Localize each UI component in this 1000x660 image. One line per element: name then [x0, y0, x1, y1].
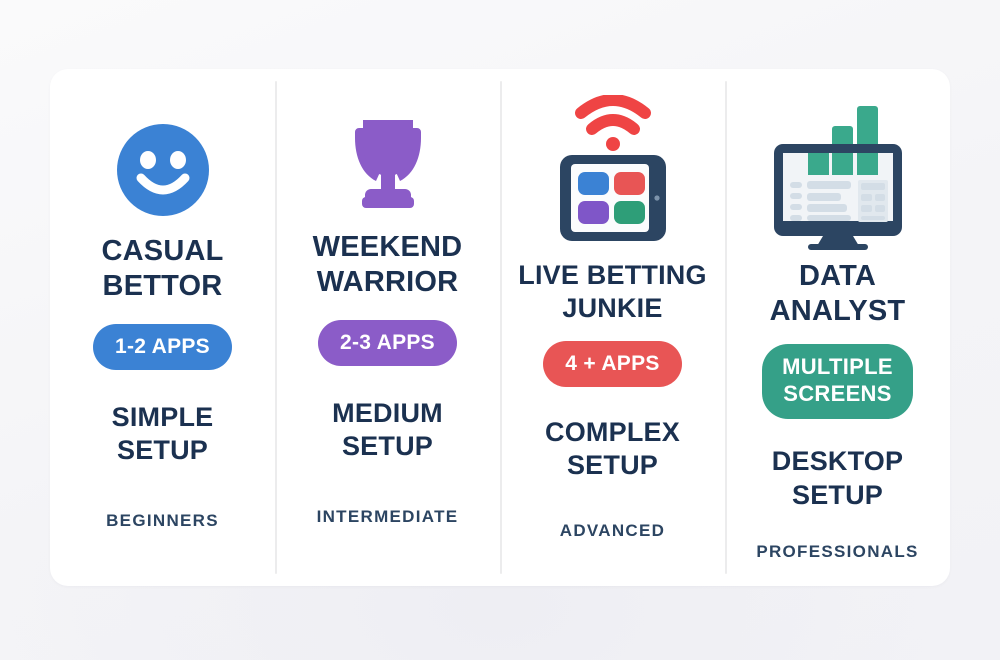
- persona-column-live-betting-junkie[interactable]: LIVE BETTING JUNKIE 4 + APPS COMPLEX SET…: [500, 69, 725, 586]
- apps-badge-row: 1-2 APPS: [93, 324, 232, 370]
- persona-column-casual-bettor[interactable]: CASUAL BETTOR 1-2 APPS SIMPLE SETUP BEGI…: [50, 69, 275, 586]
- comparison-card: CASUAL BETTOR 1-2 APPS SIMPLE SETUP BEGI…: [50, 69, 950, 586]
- persona-title: DATA ANALYST: [770, 259, 906, 330]
- apps-badge-row: 2-3 APPS: [318, 320, 457, 366]
- persona-title: WEEKEND WARRIOR: [313, 230, 463, 301]
- apps-badge-row: 4 + APPS: [543, 341, 681, 387]
- setup-complexity-label: MEDIUM SETUP: [332, 397, 443, 463]
- apps-count-badge[interactable]: 2-3 APPS: [318, 320, 457, 366]
- smiley-face-icon: [83, 98, 243, 218]
- persona-column-data-analyst[interactable]: DATA ANALYST MULTIPLE SCREENS DESKTOP SE…: [725, 69, 950, 586]
- setup-complexity-label: DESKTOP SETUP: [772, 445, 903, 511]
- screens-badge-row: MULTIPLE SCREENS: [762, 344, 913, 420]
- trophy-icon: [308, 95, 468, 215]
- tablet-wifi-apps-icon: [533, 95, 693, 247]
- apps-count-badge[interactable]: 4 + APPS: [543, 341, 681, 387]
- experience-level-label: INTERMEDIATE: [317, 507, 459, 527]
- experience-level-label: BEGINNERS: [106, 511, 219, 531]
- persona-title: CASUAL BETTOR: [101, 234, 223, 305]
- experience-level-label: ADVANCED: [560, 521, 665, 541]
- persona-column-weekend-warrior[interactable]: WEEKEND WARRIOR 2-3 APPS MEDIUM SETUP IN…: [275, 69, 500, 586]
- experience-level-label: PROFESSIONALS: [756, 542, 918, 562]
- apps-count-badge[interactable]: 1-2 APPS: [93, 324, 232, 370]
- screens-badge[interactable]: MULTIPLE SCREENS: [762, 344, 913, 420]
- desktop-monitor-chart-icon: [758, 92, 918, 250]
- setup-complexity-label: SIMPLE SETUP: [112, 401, 214, 467]
- setup-complexity-label: COMPLEX SETUP: [545, 416, 680, 482]
- persona-title: LIVE BETTING JUNKIE: [518, 259, 706, 325]
